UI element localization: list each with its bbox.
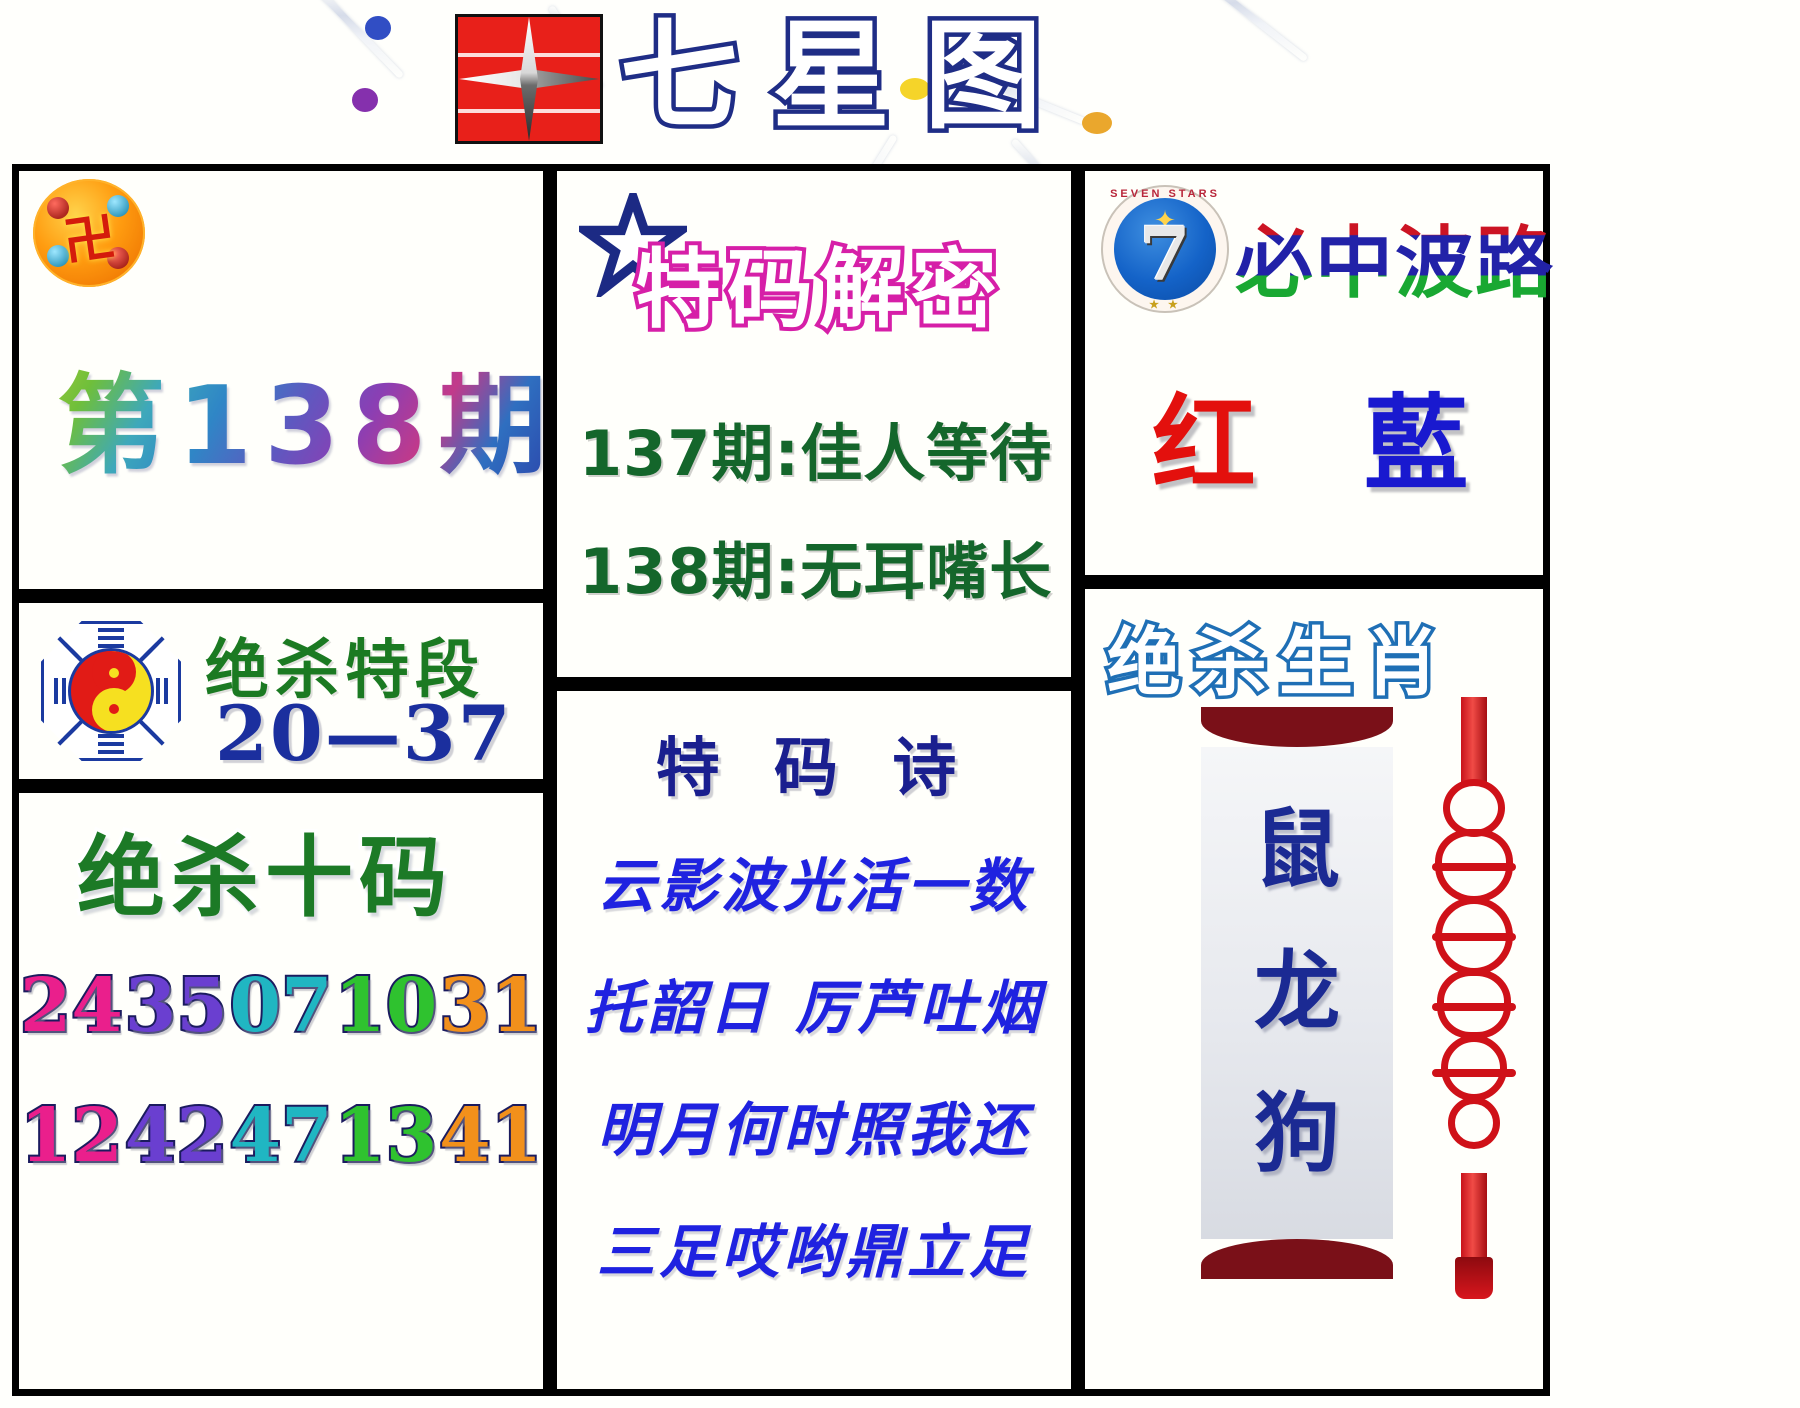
kill-number: 07 [230, 963, 333, 1049]
zodiac-item: 鼠 [1201, 779, 1393, 904]
zodiac-title: 绝杀生肖 [1107, 603, 1451, 710]
range-value: 20—37 [215, 689, 513, 778]
wave-cell: SEVEN STARS ✦ 7 ★ ★ 必中波路 红 藍 [1078, 164, 1550, 582]
kill-number: 13 [334, 1093, 437, 1179]
wave-values: 红 藍 [1085, 359, 1543, 510]
bagua-yinyang-icon [41, 621, 181, 761]
decode-line: 137期:佳人等待 [579, 403, 1052, 493]
number-row: 12 42 47 13 41 [19, 1093, 543, 1179]
kill-number: 41 [439, 1093, 542, 1179]
poem-line: 明月何时照我还 [557, 1083, 1071, 1167]
fu-medallion-icon: 卍 [33, 179, 145, 287]
chinese-knot-ornament-icon [1431, 697, 1517, 1293]
content-grid: 卍 第138期 特码解密 137期:佳人等待 138期:无耳嘴长 SEVEN S… [12, 164, 1550, 1396]
badge-number: 7 [1139, 212, 1191, 298]
poem-line: 托韶日 厉芦吐烟 [557, 961, 1071, 1045]
zodiac-item: 龙 [1201, 921, 1393, 1046]
kill-number: 12 [20, 1093, 123, 1179]
kill-number: 31 [439, 963, 542, 1049]
badge-bottom-text: ★ ★ [1101, 298, 1229, 311]
kill-number: 24 [20, 963, 123, 1049]
poem-line: 云影波光活一数 [557, 839, 1071, 923]
wave-title: 必中波路 [1235, 201, 1555, 313]
number-row: 24 35 07 10 31 [19, 963, 543, 1049]
zodiac-item: 狗 [1201, 1063, 1393, 1188]
kill-ten-title: 绝杀十码 [77, 807, 453, 934]
poster-root: 七星图 卍 第138期 特码解密 137期:佳人等待 138期:无耳嘴长 [0, 0, 1800, 1408]
kill-number: 35 [125, 963, 228, 1049]
issue-cell: 卍 第138期 [12, 164, 550, 596]
range-cell: 绝杀特段 20—37 [12, 596, 550, 786]
zodiac-scroll-panel: 鼠 龙 狗 [1201, 707, 1393, 1279]
poem-title: 特 码 诗 [557, 717, 1071, 809]
decode-title: 特码解密 [635, 219, 1003, 344]
wave-value-blue: 藍 [1364, 382, 1476, 505]
kill-number: 47 [230, 1093, 333, 1179]
kill-ten-cell: 绝杀十码 24 35 07 10 31 12 42 47 13 41 [12, 786, 550, 1396]
wave-value-red: 红 [1152, 382, 1264, 505]
red-star-logo [455, 14, 603, 144]
zodiac-cell: 绝杀生肖 鼠 龙 狗 [1078, 582, 1550, 1396]
poem-line: 三足哎哟鼎立足 [557, 1205, 1071, 1289]
kill-number: 10 [334, 963, 437, 1049]
page-title: 七星图 [620, 6, 1076, 146]
poem-cell: 特 码 诗 云影波光活一数 托韶日 厉芦吐烟 明月何时照我还 三足哎哟鼎立足 [550, 684, 1078, 1396]
fu-medallion-glyph: 卍 [58, 194, 120, 276]
kill-number: 42 [125, 1093, 228, 1179]
issue-label: 第138期 [57, 339, 558, 495]
decode-line: 138期:无耳嘴长 [579, 521, 1052, 611]
decode-cell: 特码解密 137期:佳人等待 138期:无耳嘴长 [550, 164, 1078, 684]
seven-stars-badge-icon: SEVEN STARS ✦ 7 ★ ★ [1101, 185, 1229, 313]
poster-header: 七星图 [0, 0, 1800, 160]
